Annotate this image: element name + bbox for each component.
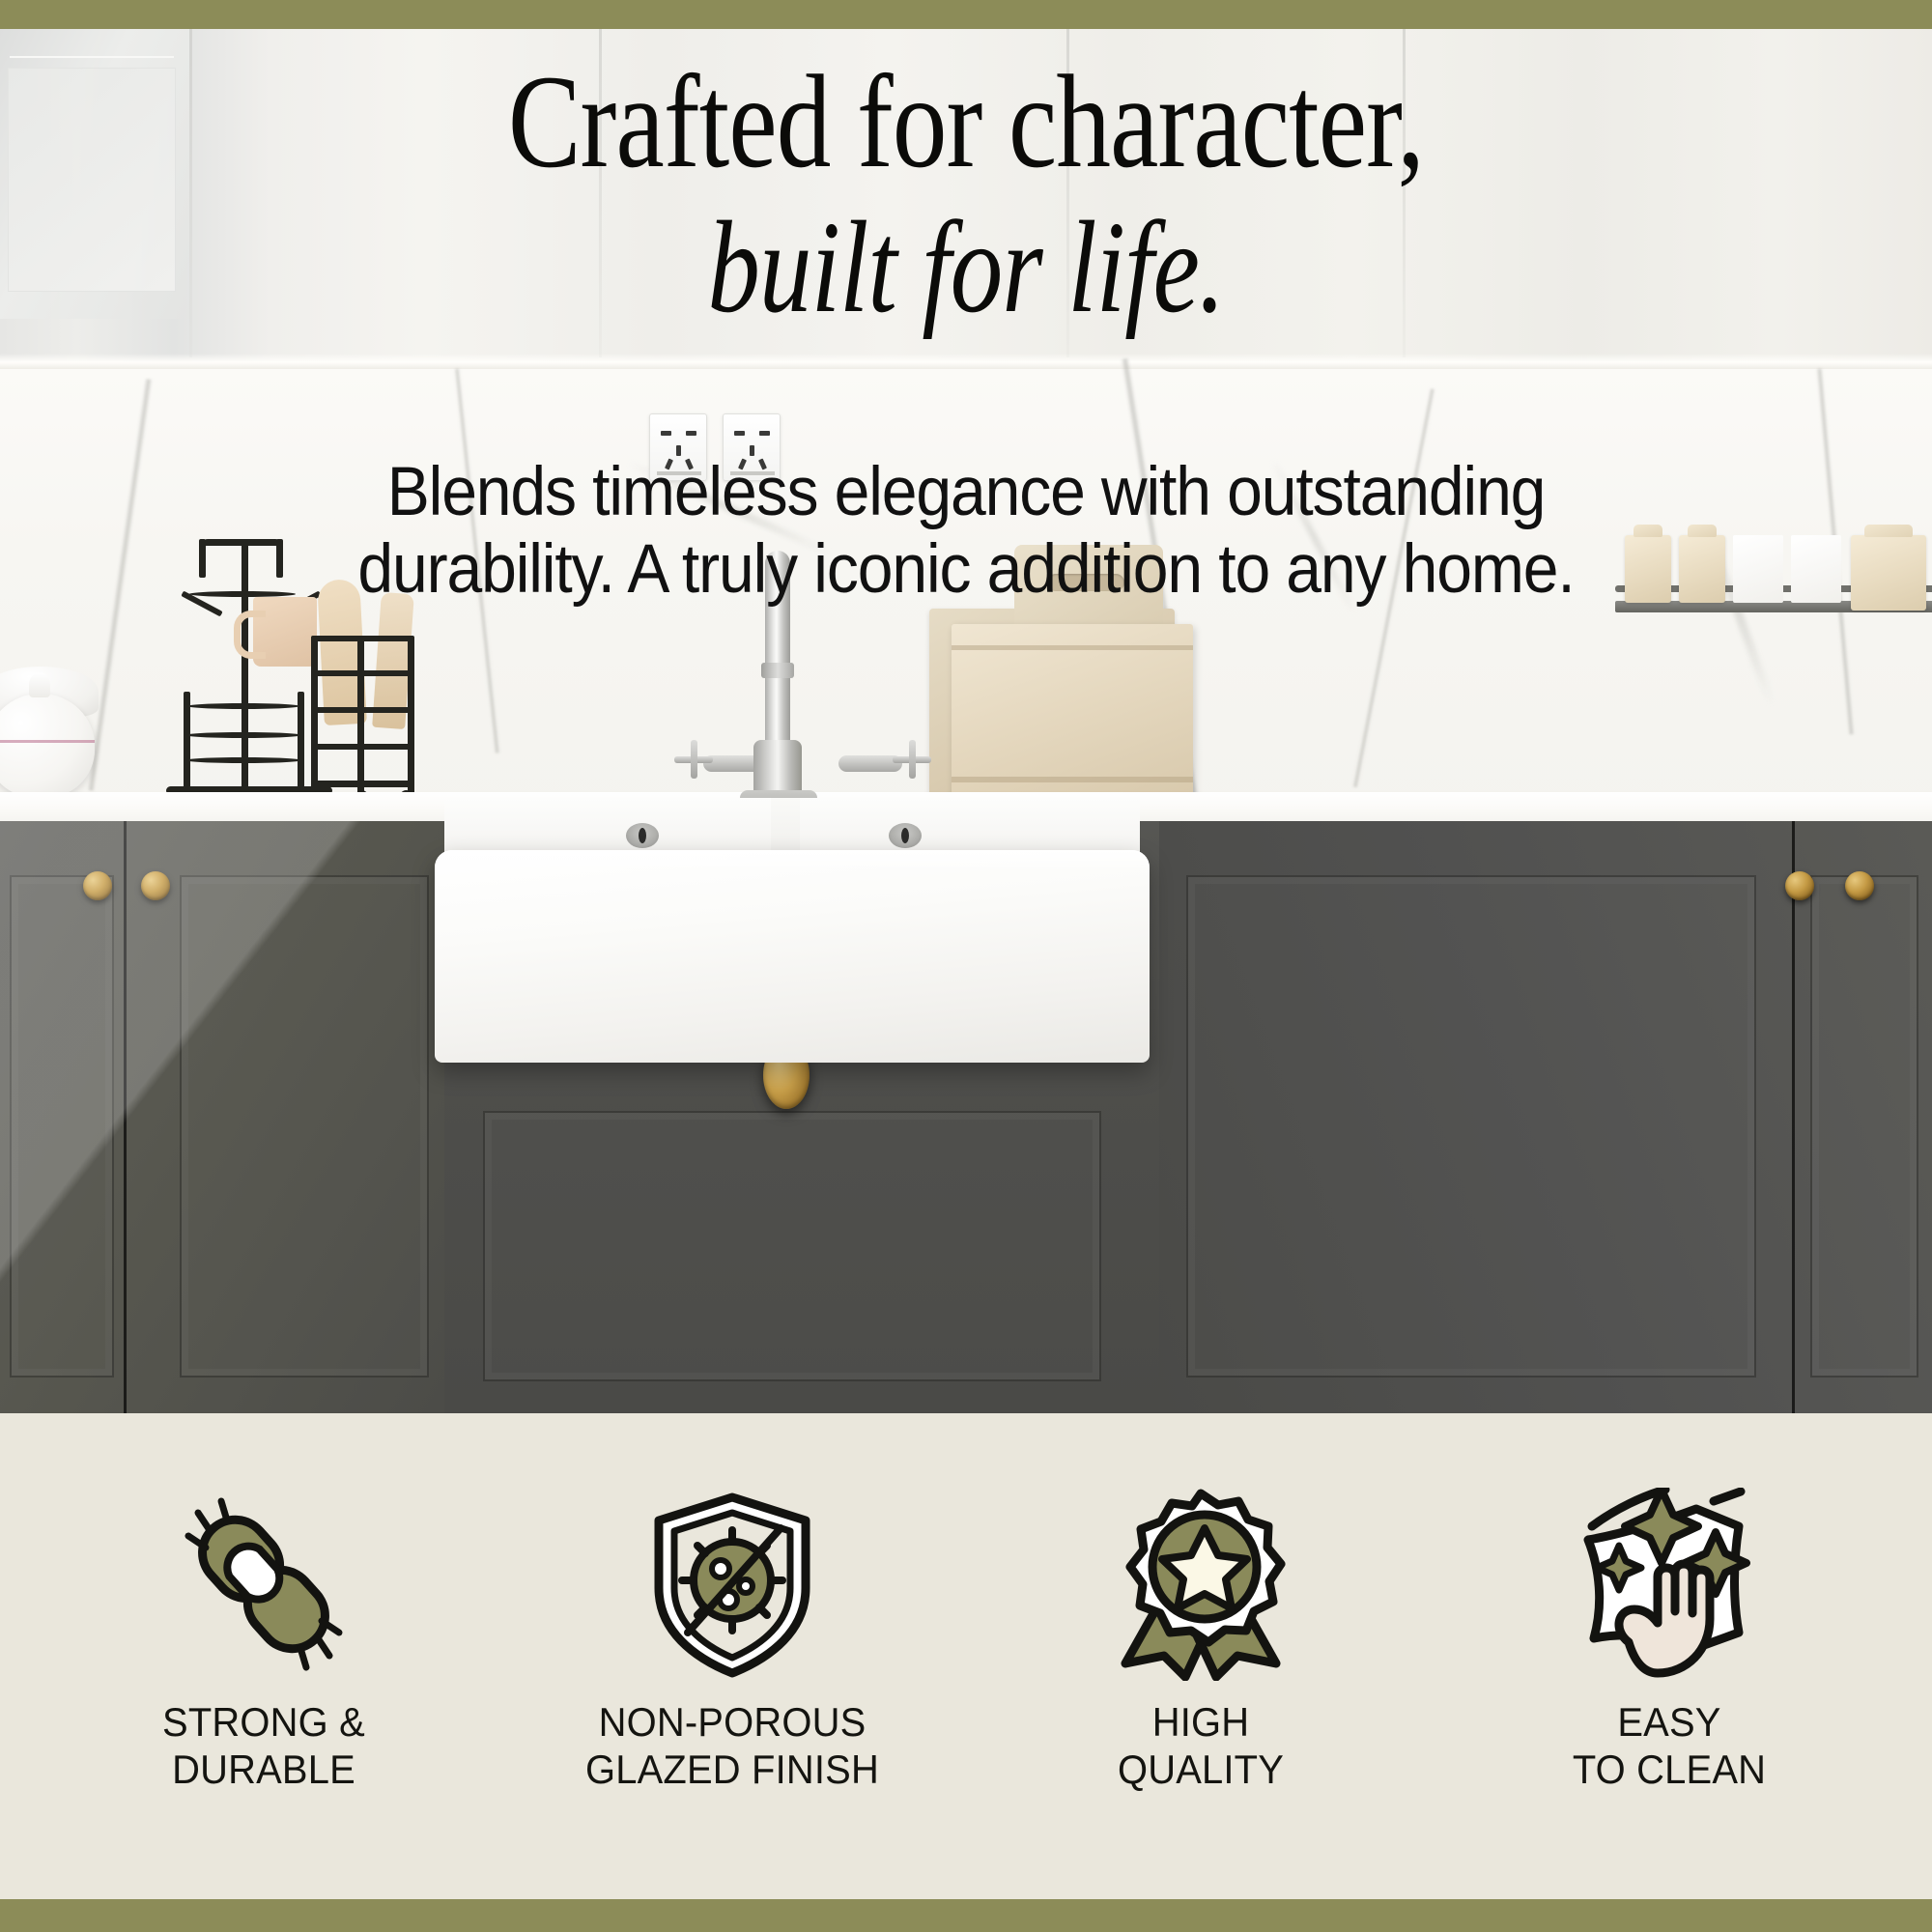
feature-caption-line-1: EASY — [1471, 1699, 1866, 1747]
brass-cabinet-knob — [1785, 871, 1814, 900]
feature-easy-to-clean: EASY TO CLEAN — [1462, 1483, 1877, 1793]
top-accent-bar — [0, 0, 1932, 29]
brass-cabinet-knob — [83, 871, 112, 900]
farmhouse-apron-sink — [435, 763, 1150, 1063]
chain-link-icon — [56, 1483, 471, 1686]
feature-high-quality: HIGH QUALITY — [993, 1483, 1408, 1793]
feature-caption-line-2: DURABLE — [66, 1747, 461, 1794]
sink-drain-right — [889, 823, 922, 848]
feature-strong-durable: STRONG & DURABLE — [56, 1483, 471, 1793]
subheadline-line-1: Blends timeless elegance with outstandin… — [68, 454, 1864, 531]
feature-caption: STRONG & DURABLE — [56, 1699, 471, 1793]
black-wire-utensil-caddy — [311, 636, 417, 798]
feature-strip: STRONG & DURABLE — [0, 1413, 1932, 1899]
sink-drain-left — [626, 823, 659, 848]
feature-caption: HIGH QUALITY — [993, 1699, 1408, 1793]
headline-line-1: Crafted for character, — [174, 54, 1758, 190]
subheadline-line-2: durability. A truly iconic addition to a… — [68, 531, 1864, 609]
hand-wiping-cloth-sparkle-icon — [1462, 1483, 1877, 1686]
brass-cabinet-knob — [141, 871, 170, 900]
shield-germ-blocked-icon — [525, 1483, 940, 1686]
feature-caption: EASY TO CLEAN — [1462, 1699, 1877, 1793]
award-ribbon-star-icon — [993, 1483, 1408, 1686]
subheadline: Blends timeless elegance with outstandin… — [0, 454, 1932, 608]
feature-caption-line-2: TO CLEAN — [1471, 1747, 1866, 1794]
right-cabinet-bank — [1159, 821, 1932, 1413]
left-cabinet-bank — [0, 821, 444, 1413]
bottom-accent-bar — [0, 1899, 1932, 1932]
headline-line-2: built for life. — [193, 190, 1739, 345]
brass-cabinet-knob — [1845, 871, 1874, 900]
product-feature-poster: Crafted for character, built for life. B… — [0, 0, 1932, 1932]
feature-caption-line-2: QUALITY — [1003, 1747, 1398, 1794]
feature-non-porous-glazed-finish: NON-POROUS GLAZED FINISH — [525, 1483, 940, 1793]
feature-caption: NON-POROUS GLAZED FINISH — [525, 1699, 940, 1793]
feature-caption-line-1: NON-POROUS — [534, 1699, 929, 1747]
feature-caption-line-1: HIGH — [1003, 1699, 1398, 1747]
page-title: Crafted for character, built for life. — [0, 54, 1932, 345]
feature-caption-line-1: STRONG & — [66, 1699, 461, 1747]
feature-caption-line-2: GLAZED FINISH — [534, 1747, 929, 1794]
sink-base-panel — [483, 1111, 1101, 1381]
